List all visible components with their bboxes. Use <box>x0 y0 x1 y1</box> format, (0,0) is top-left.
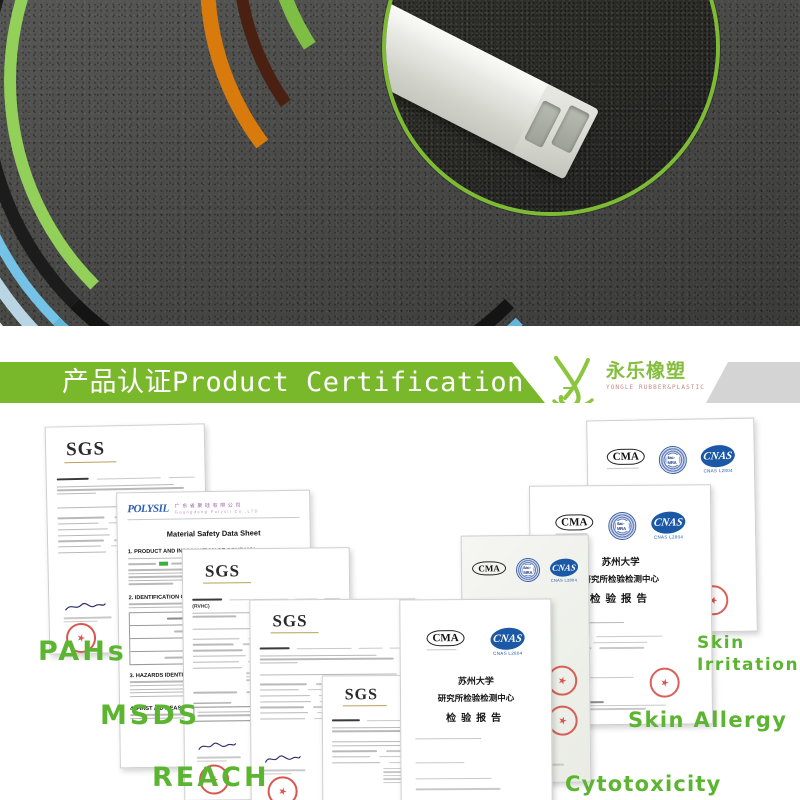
label-skin-irritation-line1: Skin <box>697 632 799 654</box>
logo-name-cn: 永乐橡塑 <box>606 360 705 382</box>
doc-heading <box>260 647 290 650</box>
logo-text-block: 永乐橡塑 YONGLE RUBBER&PLASTIC <box>606 360 705 391</box>
org-name-cn: 苏州大学 <box>401 673 551 687</box>
accreditation-marks: CMA CNAS CNAS L2804 <box>462 557 588 583</box>
label-pahs: PAHs <box>38 636 127 667</box>
cnas-mark: CNAS CNAS L2804 <box>550 557 578 582</box>
product-detail-inset <box>382 0 720 216</box>
label-skin-irritation: Skin Irritation <box>697 632 799 676</box>
polysil-logo: POLYSIL <box>127 503 168 516</box>
doc-field <box>97 477 161 480</box>
label-msds: MSDS <box>100 700 200 731</box>
section-header: 产品认证Product Certification 永乐橡塑 YONGLE RU… <box>0 362 800 403</box>
sgs-logo-rule <box>271 632 319 633</box>
cnas-mark: CNAS CNAS L2804 <box>701 445 735 474</box>
label-skin-irritation-line2: Irritation <box>697 654 799 676</box>
logo-name-en: YONGLE RUBBER&PLASTIC <box>606 384 705 391</box>
signature-block <box>197 739 241 764</box>
accreditation-marks: CMA CNAS CNAS L2804 <box>400 627 550 656</box>
ilac-mra-mark <box>608 512 636 540</box>
cma-mark: CMA <box>606 446 645 471</box>
signature-icon <box>63 598 107 613</box>
sgs-logo-rule <box>203 582 251 584</box>
company-stamp <box>268 776 298 800</box>
sgs-logo-rule <box>64 461 116 463</box>
certificate-cma-soochow-3[interactable]: CMA CNAS CNAS L2804 苏州大学 研究所检验检测中心 检验报告 <box>399 598 552 800</box>
cert-3-body <box>415 738 537 780</box>
signature-block <box>63 598 112 624</box>
certificate-collage: SGS <box>0 403 800 800</box>
label-reach: REACH <box>152 762 270 793</box>
doc-heading <box>57 478 89 481</box>
header-rule <box>127 517 299 521</box>
cma-mark: CMA <box>472 558 506 576</box>
signature-icon <box>197 739 237 752</box>
doc-field <box>169 476 195 478</box>
cert-3-footer <box>416 786 538 793</box>
cma-mark: CMA <box>426 628 464 653</box>
cnas-mark: CNAS CNAS L2804 <box>651 511 685 539</box>
sgs-logo: SGS <box>272 610 414 631</box>
doc-heading <box>332 719 360 722</box>
cnas-mark: CNAS CNAS L2804 <box>491 628 525 656</box>
signature-block <box>263 752 305 777</box>
product-photo <box>0 0 800 326</box>
doc-line <box>57 492 96 494</box>
sgs-logo-rule <box>343 705 387 706</box>
sgs-logo: SGS <box>205 560 349 582</box>
product-certification-page: 产品认证Product Certification 永乐橡塑 YONGLE RU… <box>0 0 800 800</box>
doc-line <box>57 487 184 491</box>
msds-title: Material Safety Data Sheet <box>118 528 310 540</box>
ilac-mra-mark <box>659 446 687 474</box>
accreditation-marks: CMA CNAS CNAS L2804 <box>588 445 754 476</box>
banner-gray-tab <box>706 362 800 403</box>
official-seal <box>650 667 680 697</box>
org-dept-cn: 研究所检验检测中心 <box>401 691 551 704</box>
doc-title-cn: 检验报告 <box>401 708 551 724</box>
label-cytotoxicity: Cytotoxicity <box>565 772 722 796</box>
sgs-logo: SGS <box>66 436 204 461</box>
label-skin-allergy: Skin Allergy <box>628 708 787 732</box>
polysil-header: POLYSIL 广东省聚硅有限公司 Guangdong Polysil Co.,… <box>127 501 309 516</box>
ilac-mra-mark <box>516 558 540 582</box>
page-title: 产品认证Product Certification <box>62 366 524 399</box>
doc-heading <box>192 598 222 601</box>
polysil-company-cn: 广东省聚硅有限公司 Guangdong Polysil Co.,LTD <box>175 501 259 514</box>
signature-rule <box>64 617 112 619</box>
